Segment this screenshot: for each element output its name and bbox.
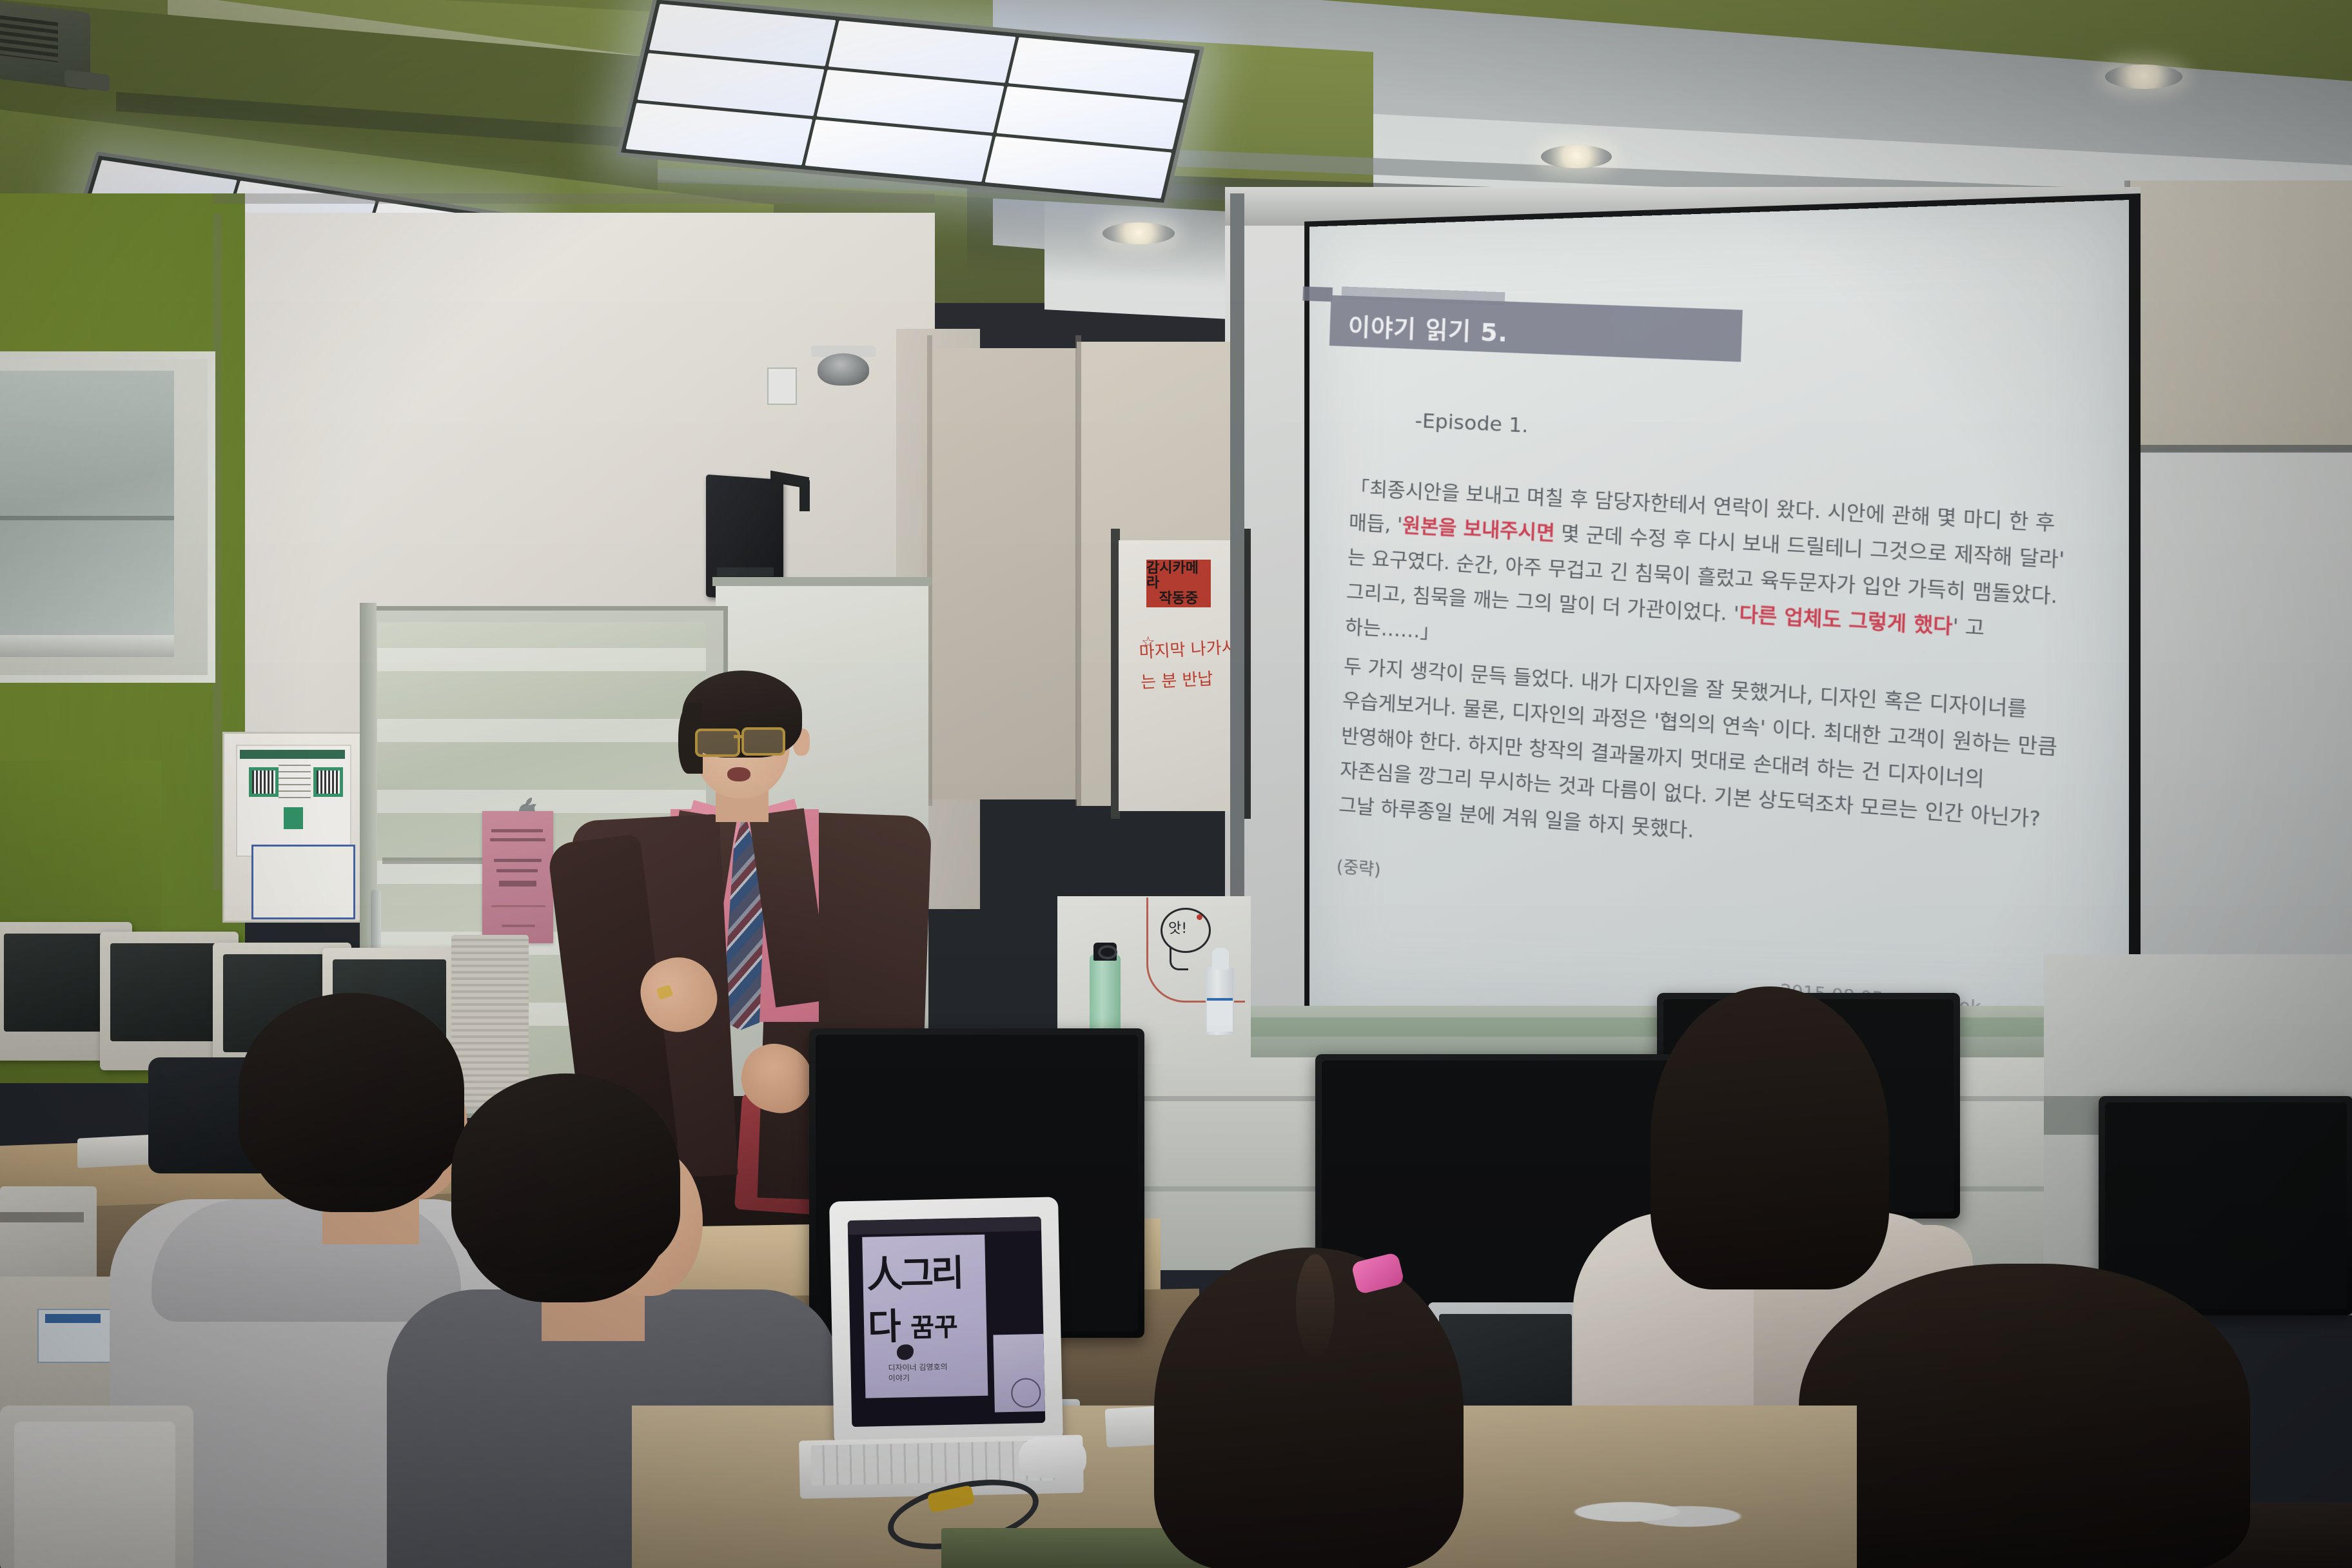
speech-bubble-text: 앗! [1168,917,1187,937]
display-case-rail [0,635,174,657]
sanitizer-label [1207,998,1233,1032]
handwritten-line-1: 마지막 나가시 [1139,632,1243,668]
glasses-icon-right-lens [741,727,785,756]
student-long-hair-right [1799,1264,2250,1568]
projector-vent [0,14,58,63]
laptop-document-preview: 人그리다 꿈꾸 디자이너 김영호의 이야기 [862,1235,988,1398]
cctv-notice-line1: 감시카메라 [1146,561,1211,591]
speaker-bracket-arm [799,480,810,511]
display-case-shelf [0,516,174,520]
slide-chip-left [1302,286,1333,302]
water-bottle-ring [1098,945,1117,959]
handwritten-note: 마지막 나가시 는 분 반납 [1139,632,1245,698]
qr-code-icon-1 [249,767,279,797]
student-grey-hoodie-hair [239,993,464,1186]
speaker-grill [717,567,774,576]
cctv-notice-sign: 감시카메라 작동중 [1146,560,1211,607]
safety-plaque-header [240,750,345,759]
notice-card [251,845,355,919]
laptop-doc-caption: 디자이너 김영호의 이야기 [888,1362,948,1384]
wall-joint-vertical-2 [1075,335,1081,806]
slide-episode-label: -Episode 1. [1415,409,1529,437]
exit-symbol-icon [284,807,303,829]
downlight-1 [1541,145,1612,168]
laptop-screen: 人그리다 꿈꾸 디자이너 김영호의 이야기 [848,1217,1046,1427]
downlight-2 [2105,64,2182,89]
cctv-notice-line2: 작동중 [1159,591,1199,606]
slide-paragraph-2: 두 가지 생각이 문득 들었다. 내가 디자인을 잘 못했거나, 디자인 혹은 … [1338,649,2065,876]
wall-panel-beige-1 [922,348,1083,799]
laptop-doc-subtitle: 꿈꾸 [910,1306,959,1345]
laptop-doc-caption-1: 디자이너 김영호의 [888,1362,947,1373]
glass-partition-frame [712,577,932,586]
student-dark-sweater-hair [451,1073,680,1273]
wall-seam-3 [2128,445,2352,453]
display-case-glass [0,371,174,648]
slide-content: 이야기 읽기 5. -Episode 1. 「최종시안을 보내고 며칠 후 담당… [1254,293,2129,1083]
speech-bubble-tail [1170,948,1188,970]
chair-foreground-seat [14,1422,175,1568]
student-light-sweater-hair [1651,986,1889,1289]
wall-junction-box [767,367,797,405]
student-pink-hairclip-part [1296,1254,1335,1357]
downlight-3 [1102,222,1175,244]
dome-camera-icon [818,353,869,386]
laptop-doc-mark [897,1344,914,1360]
wall-joint-horizontal [213,193,935,204]
sanitizer-pump [1212,948,1229,970]
printer-paper-slot [0,1212,84,1222]
safety-plaque-text-lines [279,765,311,803]
wall-right-upper [2128,181,2352,451]
printer [0,1186,97,1289]
slide-title: 이야기 읽기 5. [1347,308,1509,349]
slide-source-note: (중략) [1336,854,1381,881]
speech-bubble-dot [1197,914,1202,920]
door-poster [482,811,553,943]
glasses-icon-left-lens [695,729,740,757]
desk-label-header [45,1314,101,1323]
p1-highlight-2: 다른 업체도 그렇게 했다 [1739,603,1953,638]
p1-highlight-1: 원본을 보내주시면 [1402,514,1556,545]
laptop-doc-caption-2: 이야기 [888,1372,948,1384]
handwritten-line-2: 는 분 반납 [1140,663,1244,698]
glasses-bridge [734,735,744,738]
classroom-photo: 감시카메라 작동중 ☆ 마지막 나가시 는 분 반납 이야기 읽기 5. -Ep… [0,0,2352,1568]
presenter-mouth [727,767,750,781]
mouse[interactable] [1019,1438,1086,1478]
cables-right [1547,1489,1747,1534]
qr-code-icon-2 [313,767,343,797]
